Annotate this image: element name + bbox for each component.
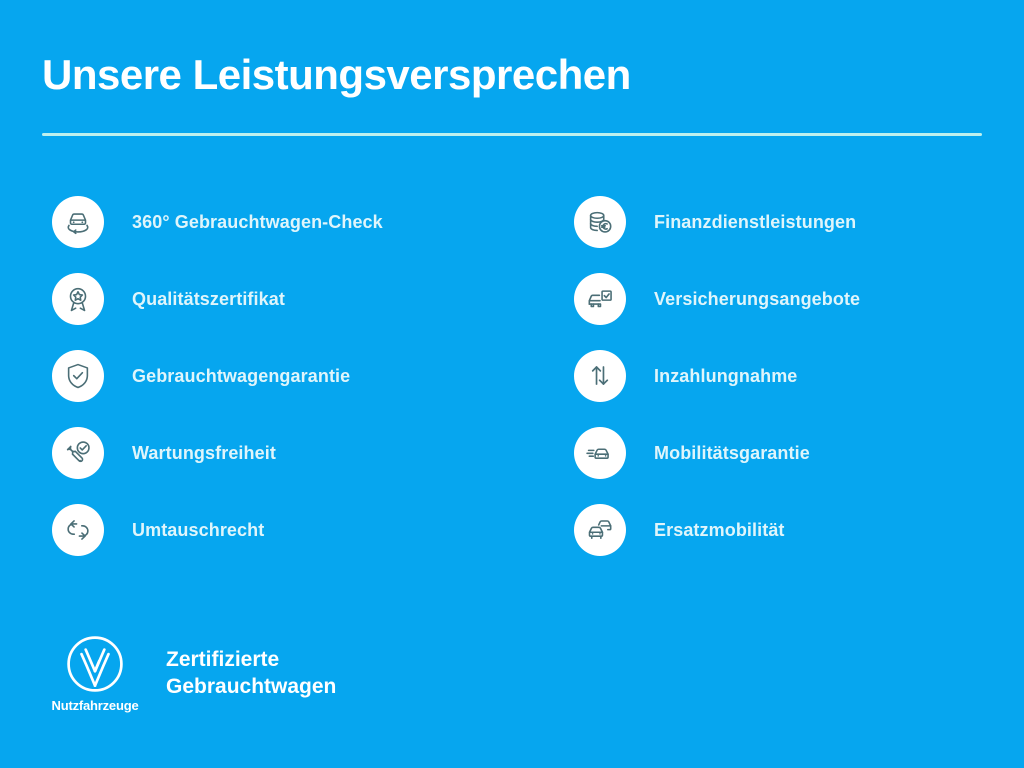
title-divider	[42, 133, 982, 136]
slide-root: Unsere Leistungsversprechen 360° Gebrauc…	[0, 0, 1024, 768]
footer-text-line-1: Zertifizierte	[166, 647, 336, 674]
up-down-arrows-icon	[574, 350, 626, 402]
two-cars-icon	[574, 504, 626, 556]
shield-check-icon	[52, 350, 104, 402]
car-checklist-icon	[574, 273, 626, 325]
list-item-label: Inzahlungnahme	[654, 366, 797, 387]
list-item-label: Mobilitätsgarantie	[654, 443, 810, 464]
list-item[interactable]: Versicherungsangebote	[574, 273, 860, 325]
list-item-label: 360° Gebrauchtwagen-Check	[132, 212, 383, 233]
list-item-label: Umtauschrecht	[132, 520, 264, 541]
wrench-check-icon	[52, 427, 104, 479]
list-item-label: Gebrauchtwagengarantie	[132, 366, 350, 387]
list-item[interactable]: 360° Gebrauchtwagen-Check	[52, 196, 383, 248]
list-item-label: Wartungsfreiheit	[132, 443, 276, 464]
promises-column-right: Finanzdienstleistungen Versicherungsange…	[574, 196, 860, 581]
list-item[interactable]: Umtauschrecht	[52, 504, 383, 556]
list-item[interactable]: Mobilitätsgarantie	[574, 427, 860, 479]
list-item[interactable]: Finanzdienstleistungen	[574, 196, 860, 248]
list-item[interactable]: Ersatzmobilität	[574, 504, 860, 556]
car-360-check-icon	[52, 196, 104, 248]
car-motion-icon	[574, 427, 626, 479]
logo-subtitle: Nutzfahrzeuge	[52, 698, 139, 713]
promises-column-left: 360° Gebrauchtwagen-Check Qualitätszerti…	[52, 196, 383, 581]
exchange-arrows-icon	[52, 504, 104, 556]
page-title: Unsere Leistungsversprechen	[42, 52, 631, 98]
list-item[interactable]: Inzahlungnahme	[574, 350, 860, 402]
logo-block: Nutzfahrzeuge	[42, 634, 148, 713]
list-item-label: Qualitätszertifikat	[132, 289, 285, 310]
award-rosette-icon	[52, 273, 104, 325]
list-item-label: Versicherungsangebote	[654, 289, 860, 310]
list-item[interactable]: Gebrauchtwagengarantie	[52, 350, 383, 402]
volkswagen-logo-icon	[65, 634, 125, 694]
list-item-label: Ersatzmobilität	[654, 520, 785, 541]
footer-text-line-2: Gebrauchtwagen	[166, 674, 336, 701]
footer-text: Zertifizierte Gebrauchtwagen	[166, 647, 336, 701]
coins-euro-icon	[574, 196, 626, 248]
footer-branding: Nutzfahrzeuge Zertifizierte Gebrauchtwag…	[42, 634, 336, 713]
list-item[interactable]: Qualitätszertifikat	[52, 273, 383, 325]
list-item[interactable]: Wartungsfreiheit	[52, 427, 383, 479]
list-item-label: Finanzdienstleistungen	[654, 212, 856, 233]
